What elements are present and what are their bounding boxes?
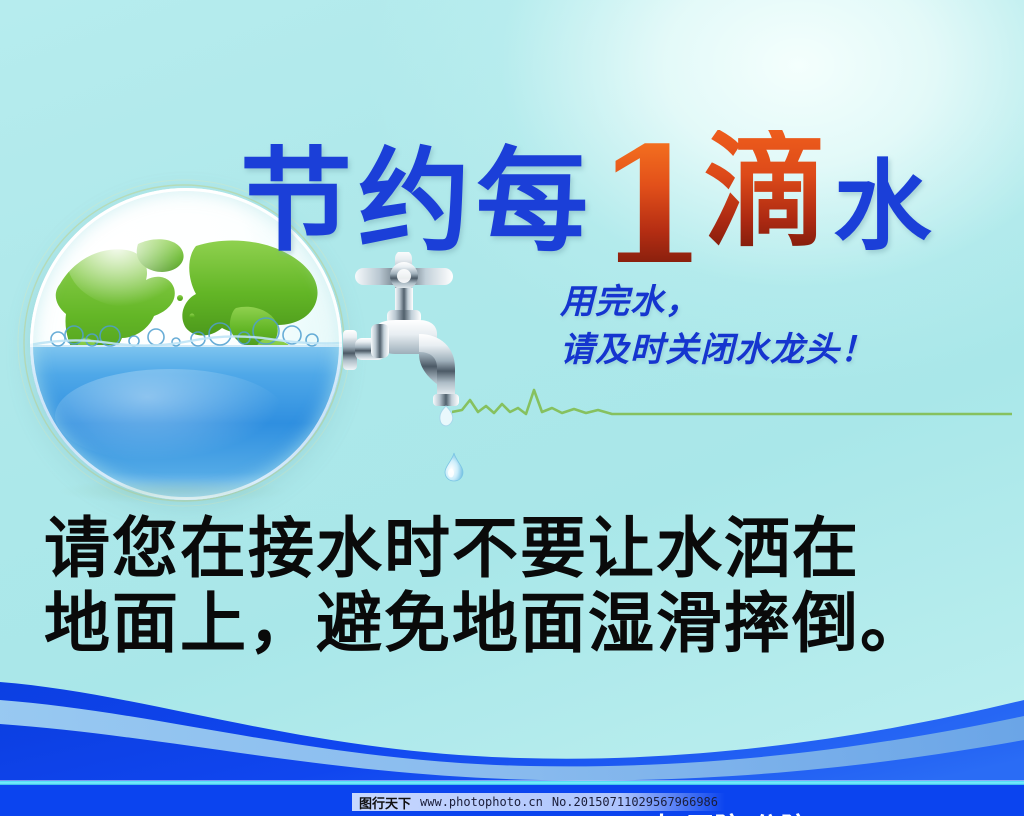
headline-number-one: 1 (596, 141, 707, 272)
poster-canvas: 节约每 1 滴 水 用完水， 请及时关闭水龙头！ 请您在接水时不要让水洒在 地面… (0, 0, 1024, 816)
subtitle-line-2: 请及时关闭水龙头！ (560, 326, 1000, 374)
chrome-faucet (337, 252, 517, 452)
watermark-id: No.20150711029567966986 (552, 795, 718, 809)
watermark-brand: 图行天下 (359, 793, 411, 812)
green-zigzag-line (452, 388, 1012, 422)
message-line-1: 请您在接水时不要让水洒在 (44, 512, 994, 587)
subtitle: 用完水， 请及时关闭水龙头！ (560, 278, 1000, 375)
headline-part2: 滴 (703, 130, 829, 254)
watermark: 图行天下 www.photophoto.cn No.20150711029567… (352, 793, 725, 811)
headline-part3: 水 (833, 158, 931, 256)
message-line-2: 地面上，避免地面湿滑摔倒。 (44, 587, 994, 662)
headline: 节约每 1 滴 水 (240, 78, 1000, 258)
watermark-url: www.photophoto.cn (420, 795, 543, 809)
subtitle-line-1: 用完水， (560, 278, 1000, 326)
main-message: 请您在接水时不要让水洒在 地面上，避免地面湿滑摔倒。 (44, 512, 994, 661)
globe-shadow (58, 478, 288, 504)
headline-part1: 节约每 (240, 146, 594, 258)
water-droplet (443, 452, 465, 482)
